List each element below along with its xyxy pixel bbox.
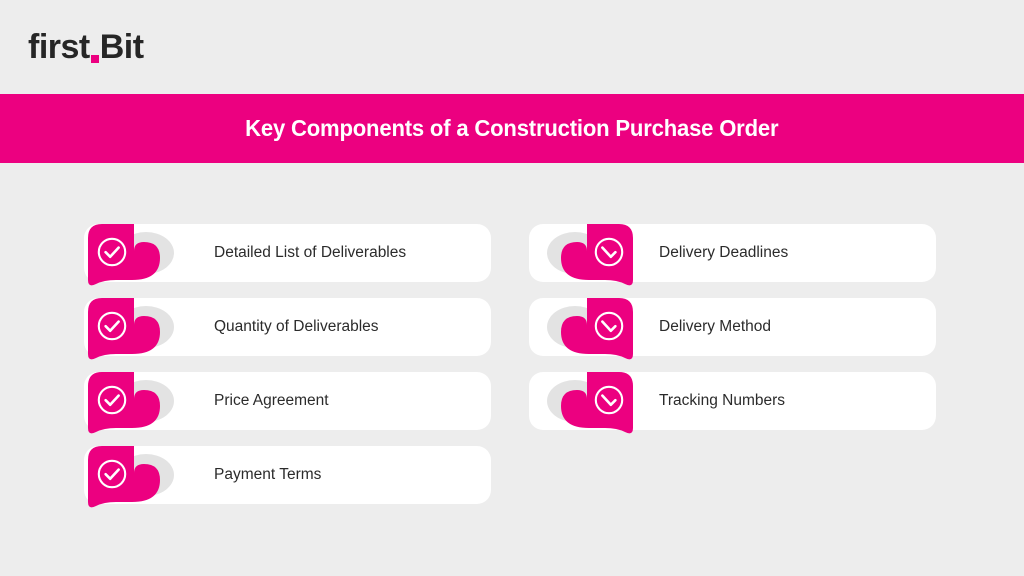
list-item[interactable]: Delivery Method	[529, 298, 936, 356]
item-label: Tracking Numbers	[659, 372, 785, 430]
item-label: Delivery Deadlines	[659, 224, 788, 282]
check-circle-icon	[86, 440, 190, 516]
list-item[interactable]: Quantity of Deliverables	[84, 298, 491, 356]
list-item[interactable]: Payment Terms	[84, 446, 491, 504]
square-dot-icon	[91, 55, 99, 63]
item-label: Detailed List of Deliverables	[214, 224, 406, 282]
list-item[interactable]: Price Agreement	[84, 372, 491, 430]
logo-bar: first Bit	[0, 0, 1024, 94]
item-label: Price Agreement	[214, 372, 329, 430]
item-label: Payment Terms	[214, 446, 321, 504]
check-circle-icon	[86, 292, 190, 368]
check-circle-icon	[531, 292, 635, 368]
item-label: Delivery Method	[659, 298, 771, 356]
item-label: Quantity of Deliverables	[214, 298, 379, 356]
check-circle-icon	[86, 366, 190, 442]
check-circle-icon	[531, 366, 635, 442]
title-banner: Key Components of a Construction Purchas…	[0, 94, 1024, 163]
page-title: Key Components of a Construction Purchas…	[245, 115, 778, 142]
check-circle-icon	[531, 218, 635, 294]
logo-text-bit: Bit	[100, 30, 144, 64]
list-item[interactable]: Detailed List of Deliverables	[84, 224, 491, 282]
firstbit-logo[interactable]: first Bit	[28, 30, 144, 64]
column-left: Detailed List of Deliverables Quantity o…	[0, 224, 512, 576]
check-circle-icon	[86, 218, 190, 294]
list-item[interactable]: Tracking Numbers	[529, 372, 936, 430]
column-right: Delivery Deadlines Delivery Method T	[512, 224, 1024, 576]
items-grid: Detailed List of Deliverables Quantity o…	[0, 163, 1024, 576]
logo-text-first: first	[28, 30, 90, 64]
list-item[interactable]: Delivery Deadlines	[529, 224, 936, 282]
